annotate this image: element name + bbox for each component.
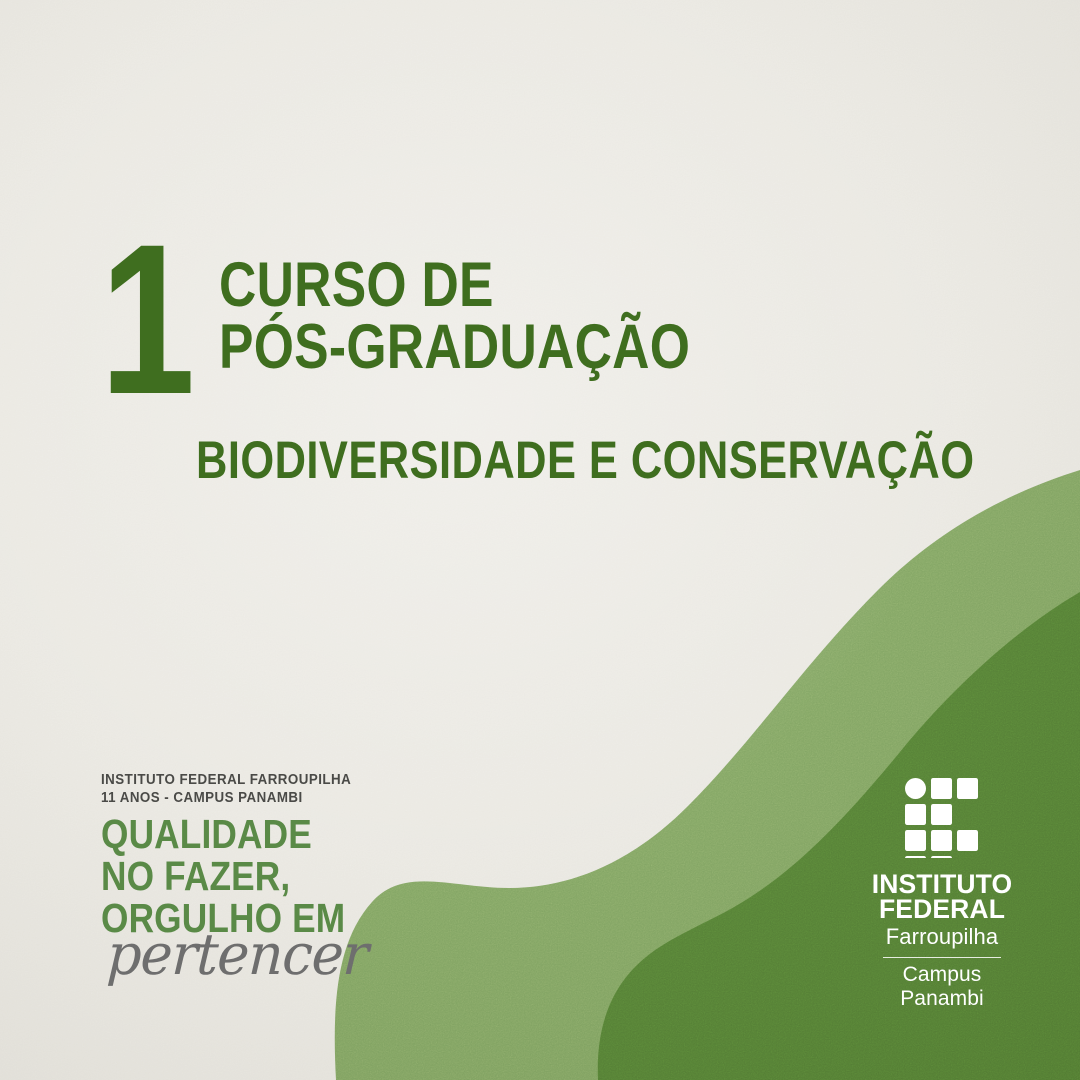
headline-lines: CURSO DE PÓS-GRADUAÇÃO [219,255,794,378]
poster-canvas: 1 CURSO DE PÓS-GRADUAÇÃO BIODIVERSIDADE … [0,0,1080,1080]
if-logo-unit: Farroupilha [842,924,1042,950]
course-count-number: 1 [100,237,190,404]
if-logo-divider [883,957,1001,958]
campaign-slogan-line-2: NO FAZER, [101,856,325,898]
if-logo-name-line-2: FEDERAL [842,897,1042,922]
campaign-slogan: QUALIDADE NO FAZER, ORGULHO EM pertencer [101,814,361,983]
campaign-lockup: INSTITUTO FEDERAL FARROUPILHA 11 ANOS - … [101,772,361,984]
if-grid-mark-icon [905,778,979,858]
if-logo-campus-line-2: Panambi [842,987,1042,1011]
headline-block: 1 CURSO DE PÓS-GRADUAÇÃO [100,243,794,404]
campaign-kicker-line-2: 11 ANOS - CAMPUS PANAMBI [101,790,340,808]
campaign-slogan-line-1: QUALIDADE [101,814,325,856]
if-logo-campus-line-1: Campus [842,963,1042,987]
instituto-federal-logo: INSTITUTO FEDERAL Farroupilha Campus Pan… [842,778,1042,1011]
campaign-kicker-line-1: INSTITUTO FEDERAL FARROUPILHA [101,772,340,790]
campaign-slogan-script: pertencer [106,927,350,984]
headline-line-1: CURSO DE [219,255,690,317]
headline-line-2: PÓS-GRADUAÇÃO [219,317,690,379]
course-name-subtitle: BIODIVERSIDADE E CONSERVAÇÃO [196,434,974,487]
